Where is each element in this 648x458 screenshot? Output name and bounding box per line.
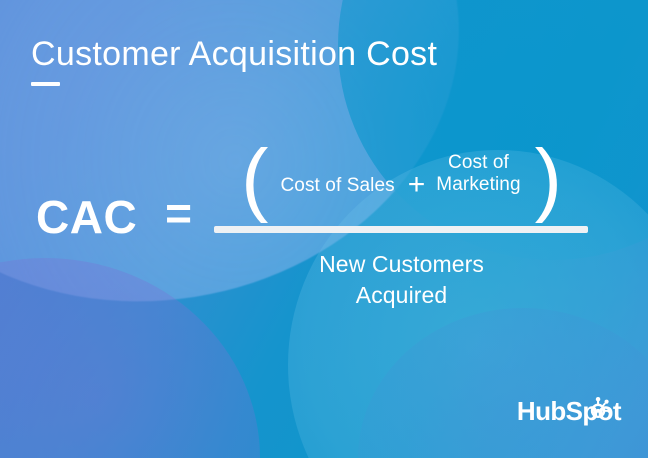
close-paren: ) bbox=[535, 149, 562, 208]
slide-canvas: Customer Acquisition Cost CAC = ( Cost o… bbox=[0, 0, 648, 458]
equals-sign: = bbox=[165, 190, 192, 236]
formula-block: CAC = ( Cost of Sales + Cost of Marketin… bbox=[0, 140, 648, 310]
hubspot-sprocket-icon bbox=[584, 393, 614, 423]
decorative-blob-bottom-right bbox=[358, 308, 648, 458]
title-block: Customer Acquisition Cost bbox=[31, 36, 437, 86]
fraction-numerator: ( Cost of Sales + Cost of Marketing ) bbox=[214, 140, 589, 222]
term-cost-of-marketing-line-1: Cost of bbox=[448, 152, 509, 173]
fraction-bar bbox=[214, 226, 588, 233]
open-paren: ( bbox=[241, 149, 268, 208]
fraction-denominator: New Customers Acquired bbox=[214, 249, 589, 310]
term-cost-of-sales: Cost of Sales bbox=[280, 175, 394, 197]
term-cost-of-marketing: Cost of Marketing bbox=[436, 152, 520, 197]
formula-result-label: CAC bbox=[36, 194, 137, 240]
page-title: Customer Acquisition Cost bbox=[31, 36, 437, 73]
hubspot-logo: HubSpot bbox=[517, 398, 621, 424]
fraction: ( Cost of Sales + Cost of Marketing ) Ne… bbox=[214, 140, 589, 310]
denominator-line-1: New Customers bbox=[319, 251, 484, 277]
plus-operator: + bbox=[408, 170, 426, 200]
title-underline-accent bbox=[31, 82, 60, 86]
term-cost-of-marketing-line-2: Marketing bbox=[436, 174, 520, 195]
denominator-line-2: Acquired bbox=[356, 282, 448, 308]
